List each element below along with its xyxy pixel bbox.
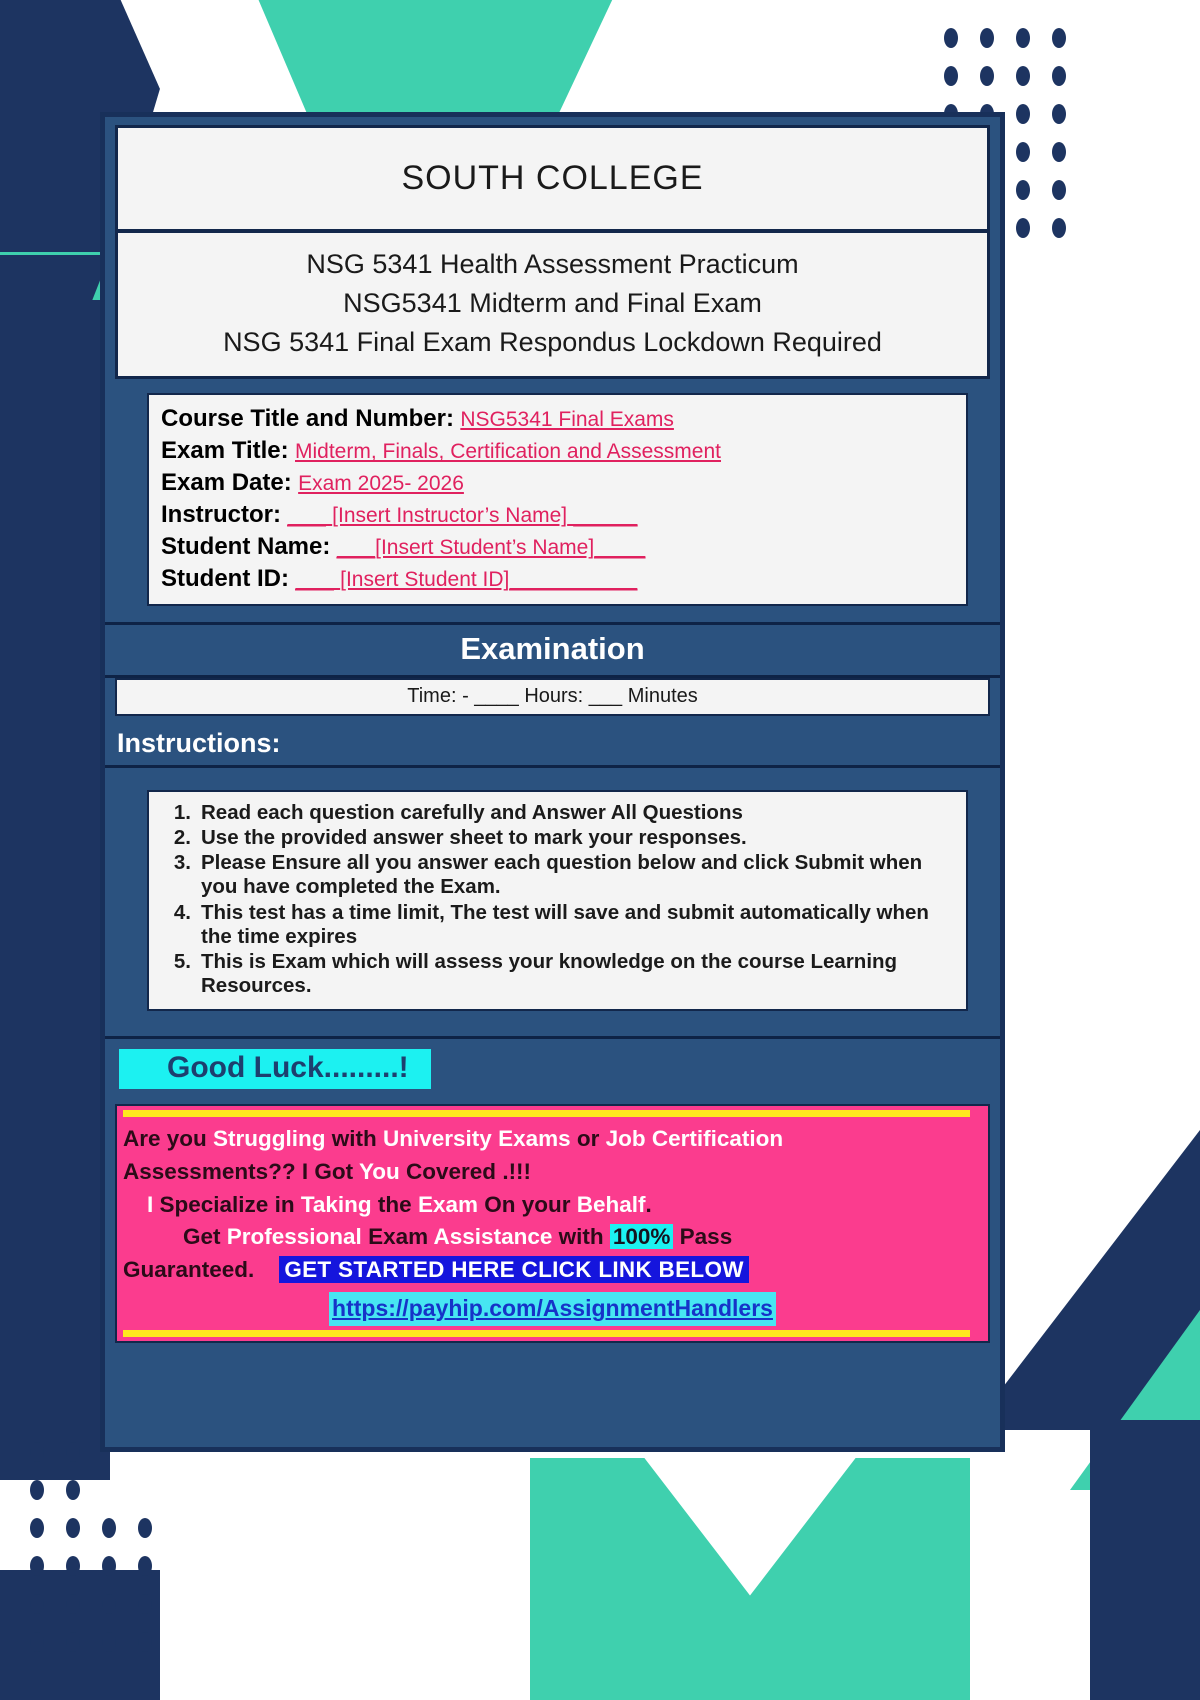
course-line-1: NSG 5341 Health Assessment Practicum [118, 245, 987, 284]
course-title-box: NSG 5341 Health Assessment Practicum NSG… [115, 233, 990, 379]
promo-seg: or [577, 1126, 606, 1151]
exam-time-text: Time: - ____ Hours: ___ Minutes [407, 685, 698, 707]
detail-row-exam-date: Exam Date: Exam 2025- 2026 [161, 467, 966, 499]
promo-seg: You [359, 1159, 406, 1184]
examination-title: Examination [460, 631, 644, 666]
promotional-banner: Are you Struggling with University Exams… [115, 1104, 990, 1343]
detail-blank-trailing: __________ [509, 565, 637, 591]
promo-line-4: Get Professional Exam Assistance with 10… [123, 1221, 982, 1254]
promo-line-2: Assessments?? I Got You Covered .!!! [123, 1156, 982, 1189]
instructions-box: 1. Read each question carefully and Answ… [147, 790, 968, 1012]
instruction-item: 5. This is Exam which will assess your k… [149, 950, 952, 998]
promo-seg: Assessments?? [123, 1159, 296, 1184]
dot-grid-bottom-left [30, 1442, 174, 1670]
promo-seg: On your [484, 1192, 577, 1217]
promo-seg: Are you [123, 1126, 213, 1151]
college-name: SOUTH COLLEGE [401, 159, 703, 198]
instruction-item: 2. Use the provided answer sheet to mark… [149, 826, 952, 850]
instruction-number: 2. [149, 826, 201, 850]
instruction-number: 5. [149, 950, 201, 998]
promo-seg: in [275, 1192, 301, 1217]
detail-value[interactable]: NSG5341 Final Exams [460, 408, 674, 431]
detail-blank-trailing: ____ [594, 533, 645, 559]
course-line-3: NSG 5341 Final Exam Respondus Lockdown R… [118, 323, 987, 362]
promo-seg: Exam [418, 1192, 484, 1217]
promo-seg: Guaranteed [123, 1257, 248, 1282]
promo-seg: . [248, 1257, 254, 1282]
navy-band-right [1090, 1420, 1200, 1700]
instructions-heading-band: Instructions: [105, 724, 1000, 768]
detail-row-course: Course Title and Number: NSG5341 Final E… [161, 403, 966, 435]
detail-label: Student Name: [161, 533, 330, 560]
instruction-text: Please Ensure all you answer each questi… [201, 851, 952, 899]
promo-seg: University Exams [383, 1126, 577, 1151]
navy-band-left [0, 300, 110, 1480]
promo-seg: I Got [302, 1159, 359, 1184]
promo-seg: Professional [227, 1224, 368, 1249]
promo-highlight-100-percent: 100% [610, 1224, 674, 1249]
instruction-item: 4. This test has a time limit, The test … [149, 901, 952, 949]
detail-row-student-name: Student Name: ___[Insert Student’s Name]… [161, 531, 966, 563]
detail-blank-leading: ___ [287, 501, 332, 527]
promo-line-1: Are you Struggling with University Exams… [123, 1123, 982, 1156]
detail-label: Exam Date: [161, 469, 292, 496]
examination-band: Examination [105, 622, 1000, 678]
detail-value[interactable]: Midterm, Finals, Certification and Asses… [295, 440, 721, 463]
instruction-item: 1. Read each question carefully and Answ… [149, 801, 952, 825]
detail-label: Exam Title: [161, 437, 289, 464]
cta-label[interactable]: GET STARTED HERE CLICK LINK BELOW [279, 1256, 748, 1283]
exam-details-box: Course Title and Number: NSG5341 Final E… [147, 393, 968, 605]
promo-seg: I [147, 1192, 160, 1217]
detail-value[interactable]: [Insert Instructor’s Name] [332, 504, 567, 527]
yellow-rule-top [123, 1110, 970, 1117]
good-luck-wrap: Good Luck.........! [105, 1039, 1000, 1098]
detail-value[interactable]: [Insert Student’s Name] [375, 536, 594, 559]
detail-row-exam-title: Exam Title: Midterm, Finals, Certificati… [161, 435, 966, 467]
teal-chevron-bottom [530, 1458, 970, 1700]
promo-seg: .!!! [496, 1159, 531, 1184]
promo-seg: with [559, 1224, 610, 1249]
promo-seg: Assistance [434, 1224, 559, 1249]
promo-seg: Exam [368, 1224, 433, 1249]
promo-seg: Behalf [577, 1192, 646, 1217]
promo-link[interactable]: https://payhip.com/AssignmentHandlers [329, 1292, 776, 1325]
detail-blank-leading: ___ [337, 533, 375, 559]
course-line-2: NSG5341 Midterm and Final Exam [118, 284, 987, 323]
promo-link-line: https://payhip.com/AssignmentHandlers [123, 1292, 982, 1326]
detail-value[interactable]: [Insert Student ID] [340, 568, 509, 591]
promo-seg: Struggling [213, 1126, 332, 1151]
exam-time-row: Time: - ____ Hours: ___ Minutes [115, 678, 990, 716]
exam-cover-sheet: SOUTH COLLEGE NSG 5341 Health Assessment… [100, 112, 1005, 1452]
instructions-heading: Instructions: [117, 728, 281, 758]
promo-seg: with [332, 1126, 383, 1151]
promo-seg: Pass [673, 1224, 732, 1249]
good-luck-banner: Good Luck.........! [119, 1049, 431, 1089]
instruction-item: 3. Please Ensure all you answer each que… [149, 851, 952, 899]
detail-value[interactable]: Exam 2025- 2026 [298, 472, 464, 495]
instruction-number: 3. [149, 851, 201, 899]
promo-seg: Job Certification [606, 1126, 784, 1151]
instruction-number: 1. [149, 801, 201, 825]
instruction-text: Use the provided answer sheet to mark yo… [201, 826, 952, 850]
promo-body: Are you Struggling with University Exams… [117, 1117, 988, 1330]
detail-label: Course Title and Number: [161, 405, 454, 432]
promo-seg: Specialize [160, 1192, 275, 1217]
detail-label: Student ID: [161, 565, 289, 592]
instruction-text: This is Exam which will assess your know… [201, 950, 952, 998]
promo-seg: the [378, 1192, 418, 1217]
college-name-box: SOUTH COLLEGE [115, 125, 990, 233]
detail-row-instructor: Instructor: ___ [Insert Instructor’s Nam… [161, 499, 966, 531]
promo-seg: Taking [301, 1192, 378, 1217]
promo-seg: Get [183, 1224, 227, 1249]
detail-label: Instructor: [161, 501, 281, 528]
detail-blank-leading: ___ [295, 565, 340, 591]
promo-line-3: I Specialize in Taking the Exam On your … [123, 1189, 982, 1222]
detail-blank-trailing: _____ [567, 501, 637, 527]
instruction-text: This test has a time limit, The test wil… [201, 901, 952, 949]
yellow-rule-bottom [123, 1330, 970, 1337]
instruction-text: Read each question carefully and Answer … [201, 801, 952, 825]
promo-line-5: Guaranteed. GET STARTED HERE CLICK LINK … [123, 1254, 982, 1287]
promo-seg: Covered [406, 1159, 496, 1184]
promo-seg: . [646, 1192, 652, 1217]
poster-page: SOUTH COLLEGE NSG 5341 Health Assessment… [0, 0, 1200, 1700]
detail-row-student-id: Student ID: ___ [Insert Student ID]_____… [161, 563, 966, 595]
instruction-number: 4. [149, 901, 201, 949]
